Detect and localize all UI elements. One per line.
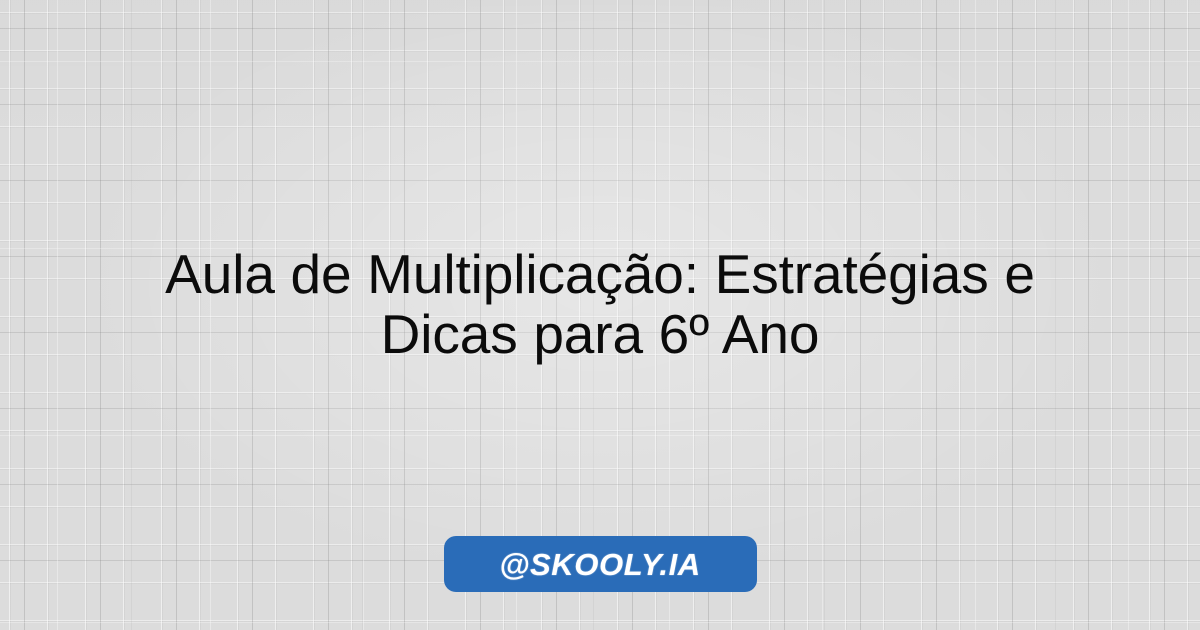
page-title: Aula de Multiplicação: Estratégias eDica… [45,244,1155,364]
title-block: Aula de Multiplicação: Estratégias eDica… [45,244,1155,364]
handle-badge-wrapper: @SKOOLY.IA [0,536,1200,592]
page-title-line-1: Aula de Multiplicação: Estratégias e [165,243,1035,305]
page-title-line-2: Dicas para 6º Ano [381,303,820,365]
handle-badge-label: @SKOOLY.IA [499,549,701,580]
handle-badge[interactable]: @SKOOLY.IA [444,536,757,592]
social-card: Aula de Multiplicação: Estratégias eDica… [0,0,1200,630]
